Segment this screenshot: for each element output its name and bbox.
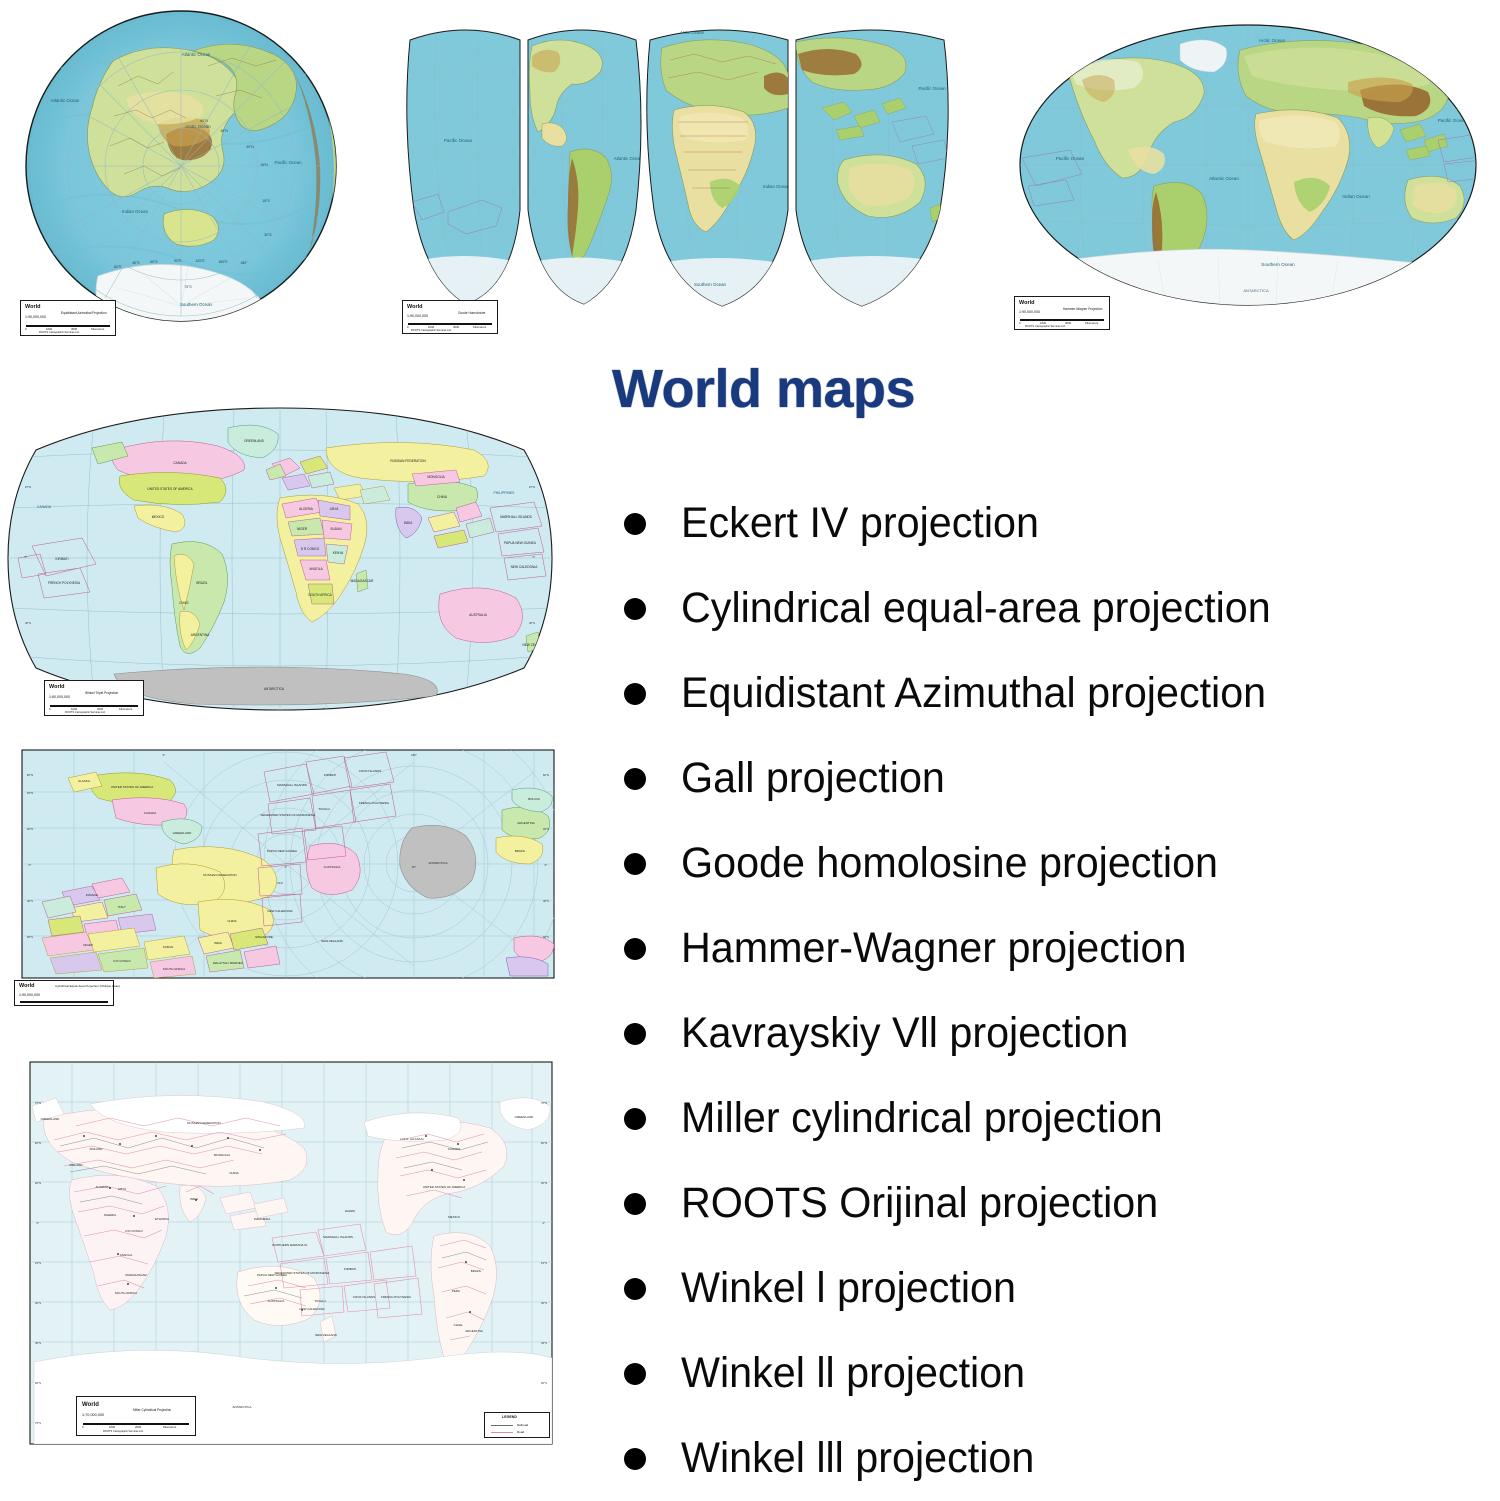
svg-text:RUSSIAN FEDERATION: RUSSIAN FEDERATION [187,1121,220,1125]
svg-text:ALGERIA: ALGERIA [299,507,314,511]
svg-text:30°N: 30°N [27,827,33,831]
legend-item-road: Road [517,1431,524,1434]
svg-text:60°E: 60°E [401,411,407,415]
map-thumb-miller-roads[interactable]: RUSSIAN FEDERATION MONGOLIA CHINA INDIA … [14,1040,566,1464]
svg-text:30°W: 30°W [1284,21,1292,25]
svg-text:GREENLAND: GREENLAND [41,1117,61,1121]
plate-scalebar-units-2: 1000 [1040,322,1046,325]
svg-text:Pacific Ocean: Pacific Ocean [274,160,302,165]
plate-credit: ROOTS Cartographic Services Ltd. [411,330,452,333]
svg-text:RUSSIAN FEDERATION: RUSSIAN FEDERATION [390,459,426,463]
svg-text:FRENCH POLYNESIA: FRENCH POLYNESIA [359,801,389,805]
svg-text:NORTHERN MARIANA IS.: NORTHERN MARIANA IS. [272,1243,308,1247]
plate-projection: Miller Cylindrical Projection [133,1409,171,1412]
svg-text:D R CONGO: D R CONGO [125,1229,143,1233]
svg-text:90°E: 90°E [411,981,417,985]
svg-text:NIGER: NIGER [83,943,93,947]
svg-text:TUVALU: TUVALU [314,1299,326,1303]
svg-text:D R CONGO: D R CONGO [113,959,131,963]
svg-text:CHILE: CHILE [454,1323,463,1327]
svg-text:45°W: 45°W [489,1451,496,1455]
svg-text:15°E: 15°E [69,1451,75,1455]
plate-projection: Cylindrical Equal-Area Projection (Obliq… [55,985,120,988]
svg-text:45°E: 45°E [111,1055,117,1059]
svg-text:60°N: 60°N [27,773,33,777]
svg-text:INDIA: INDIA [214,941,222,945]
svg-text:ALASKA: ALASKA [78,779,90,783]
plate-projection: Equidistant Azimuthal Projection [61,312,107,315]
svg-text:60°E: 60°E [1405,33,1412,37]
svg-text:75°W: 75°W [447,1055,454,1059]
svg-text:ARGENTINA: ARGENTINA [465,1329,483,1333]
svg-text:0°: 0° [163,753,166,757]
svg-text:90°E: 90°E [441,701,447,705]
svg-text:PAPUA NEW GUINEA: PAPUA NEW GUINEA [504,541,537,545]
legend-swatch-railroad [491,1425,513,1426]
svg-text:30°S: 30°S [541,1301,547,1305]
map-legend-plate: World Cylindrical Equal-Area Projection … [14,980,114,1006]
svg-text:CANADA: CANADA [144,811,157,815]
svg-text:105°E: 105°E [194,1055,202,1059]
svg-text:Atlantic Ocean: Atlantic Ocean [614,156,643,161]
svg-text:150°W: 150°W [120,415,129,419]
svg-text:INDIA: INDIA [404,521,413,525]
bullet-icon [624,1278,646,1300]
svg-text:0°: 0° [533,555,536,559]
plate-title: World [1019,301,1034,307]
svg-text:MEXICO: MEXICO [152,515,165,519]
plate-scale: 1:80,000,000 [49,696,70,700]
svg-text:15°W: 15°W [529,1055,536,1059]
svg-text:ANTARCTICA: ANTARCTICA [429,861,448,865]
svg-text:30°N: 30°N [541,1181,547,1185]
svg-text:Indian Ocean: Indian Ocean [122,209,149,214]
svg-text:ANGOLA: ANGOLA [120,1253,133,1257]
svg-text:120°E: 120°E [195,259,205,263]
svg-text:15°S: 15°S [262,199,270,203]
list-item[interactable]: Goode homolosine projection [618,821,1500,906]
svg-text:NEW CALEDONIA: NEW CALEDONIA [511,565,539,569]
list-item[interactable]: Cylindrical equal-area projection [618,566,1500,651]
svg-text:NIGERIA: NIGERIA [104,1213,116,1217]
plate-scalebar-units-2: 1000 [428,326,434,329]
svg-text:ANTARCTICA: ANTARCTICA [1243,288,1269,293]
list-item-label: Equidistant Azimuthal projection [681,671,1266,716]
list-item[interactable]: Equidistant Azimuthal projection [618,651,1500,736]
legend-title: LEGEND [502,1416,517,1420]
svg-text:0°: 0° [285,865,288,869]
svg-text:45°S: 45°S [35,1341,41,1345]
list-item-label: Winkel ll projection [681,1351,1025,1396]
plate-title: World [25,305,40,311]
plate-projection: Hammer-Wagner Projection [1063,308,1102,311]
svg-text:30°N: 30°N [35,1181,41,1185]
plate-credit: ROOTS Cartographic Services Ltd. [1025,326,1066,329]
svg-text:ALGERIA: ALGERIA [95,1185,108,1189]
svg-text:Arctic Ocean: Arctic Ocean [185,124,211,129]
svg-text:Atlantic Ocean: Atlantic Ocean [51,98,80,103]
list-item[interactable]: Gall projection [618,736,1500,821]
svg-text:135°E: 135°E [236,1451,244,1455]
svg-text:RUSSIAN FEDERATION: RUSSIAN FEDERATION [203,873,236,877]
svg-text:CHINA: CHINA [229,1171,238,1175]
svg-text:0°: 0° [543,1221,546,1225]
bullet-icon [624,768,646,790]
plate-scalebar-units-4: Kilometers [91,328,104,331]
svg-text:LIBYA: LIBYA [118,1187,126,1191]
svg-text:CHINA: CHINA [437,495,448,499]
svg-text:MADAGASCAR: MADAGASCAR [125,1273,147,1277]
map-legend-plate: World Equidistant Azimuthal Projection 1… [20,300,116,336]
map-legend-plate: World Hammer-Wagner Projection 1:90,000,… [1014,296,1110,330]
svg-text:30°E: 30°E [1365,309,1372,313]
svg-text:CANADA: CANADA [448,1147,461,1151]
svg-text:60°S: 60°S [27,935,33,939]
svg-text:30°S: 30°S [543,899,549,903]
svg-text:Southern Ocean: Southern Ocean [694,282,727,287]
svg-text:60°E: 60°E [114,265,122,269]
svg-text:PERU: PERU [452,1289,460,1293]
svg-text:150°W: 150°W [1123,309,1132,313]
svg-text:UNITED STATES OF AMERICA: UNITED STATES OF AMERICA [111,785,154,789]
plate-scalebar-units: 0 [1019,322,1021,325]
svg-text:60°S: 60°S [543,935,549,939]
svg-text:U.S.A. (ALASKA): U.S.A. (ALASKA) [400,1137,423,1141]
svg-text:60°N: 60°N [200,119,208,123]
svg-text:0°: 0° [1327,23,1331,27]
svg-text:15°S: 15°S [541,1261,547,1265]
svg-text:105°W: 105°W [404,1055,413,1059]
svg-text:Indian Ocean: Indian Ocean [1342,194,1370,199]
svg-text:Pacific Ocean: Pacific Ocean [444,138,473,143]
svg-text:GREENLAND: GREENLAND [244,439,265,443]
bullet-icon [624,1108,646,1130]
plate-projection: Winkel Tripel Projection [85,692,118,695]
svg-text:180°: 180° [240,261,248,265]
bullet-icon [624,513,646,535]
plate-scalebar-units-3: 3000 [97,708,103,711]
svg-text:SOUTH AFRICA: SOUTH AFRICA [308,593,332,597]
page-title: World maps [612,362,915,416]
svg-text:FRANCE: FRANCE [86,893,98,897]
svg-text:30°S: 30°S [529,621,535,625]
svg-text:30°S: 30°S [264,233,272,237]
svg-text:AUSTRALIA: AUSTRALIA [268,1299,285,1303]
svg-text:HAWAII: HAWAII [345,1209,356,1213]
svg-text:30°S: 30°S [35,1301,41,1305]
plate-scale: 1:90,000,000 [407,315,428,319]
svg-text:PHILIPPINES: PHILIPPINES [494,491,516,495]
svg-text:90°W: 90°W [1204,21,1212,25]
svg-text:60°W: 60°W [1244,19,1252,23]
plate-scale: 1:70,000,000 [82,1414,104,1418]
svg-text:15°N: 15°N [529,485,535,489]
map-legend-plate: World Goode Homolosine 1:90,000,000 0 10… [402,300,498,334]
svg-text:PAPUA NEW GUINEA: PAPUA NEW GUINEA [267,849,297,853]
svg-text:60°S: 60°S [541,1381,547,1385]
map-graphic-azimuthal: Atlantic Ocean Atlantic Ocean Arctic Oce… [18,6,348,336]
plate-scalebar-units: 0 [25,328,27,331]
svg-text:D R CONGO: D R CONGO [301,547,320,551]
svg-text:15°S: 15°S [35,1261,41,1265]
plate-credit: ROOTS Cartographic Services Ltd. [103,1431,144,1434]
map-legend-box: LEGEND Railroad Road [484,1412,550,1438]
svg-text:CANADA: CANADA [37,505,52,509]
svg-text:Arctic Ocean: Arctic Ocean [680,30,705,35]
svg-text:BOLIVIA: BOLIVIA [528,797,540,801]
svg-text:INDONESIA: INDONESIA [254,1217,271,1221]
svg-text:60°S: 60°S [35,1381,41,1385]
bullet-icon [624,1193,646,1215]
svg-text:15°E: 15°E [69,1055,75,1059]
plate-credit: ROOTS Cartographic Services Ltd. [39,332,80,335]
svg-text:30°W: 30°W [1284,313,1292,317]
plate-scalebar-units-2: 1000 [71,708,77,711]
svg-text:SUDAN: SUDAN [163,945,174,949]
svg-text:30°S: 30°S [25,621,31,625]
svg-text:AUSTRALIA: AUSTRALIA [324,865,341,869]
svg-text:90°E: 90°E [174,259,182,263]
list-item-label: Winkel lll projection [681,1436,1034,1481]
svg-text:ARGENTINA: ARGENTINA [191,633,210,637]
svg-text:CANADA: CANADA [173,461,187,465]
svg-text:MARSHALL ISLANDS: MARSHALL ISLANDS [500,515,532,519]
map-graphic-cea: UNITED STATES OF AMERICA CANADA GREENLAN… [14,742,562,990]
svg-text:75°N: 75°N [35,1101,41,1105]
plate-scalebar-units-3: 2000 [135,1426,141,1429]
plate-scalebar-units: 0 [49,708,51,711]
plate-scale: 1:90,000,000 [25,316,46,320]
svg-text:ARGENTINA: ARGENTINA [517,821,535,825]
list-item[interactable]: ROOTS Orijinal projection [618,1161,1500,1246]
svg-text:KIRIBATI: KIRIBATI [324,773,336,777]
plate-scalebar-units-4: Kilometers [119,708,132,711]
svg-text:120°E: 120°E [460,419,468,423]
svg-text:SUDAN: SUDAN [330,527,342,531]
svg-text:30°S: 30°S [27,899,33,903]
svg-text:BRAZIL: BRAZIL [471,1269,482,1273]
svg-text:165°E: 165°E [278,1055,286,1059]
svg-text:NIGER: NIGER [297,527,308,531]
svg-text:GREENLAND: GREENLAND [173,831,193,835]
plate-scalebar-units-2: 1000 [109,1426,115,1429]
svg-text:75°S: 75°S [184,285,192,289]
list-item[interactable]: Miller cylindrical projection [618,1076,1500,1161]
svg-text:ANTARCTICA: ANTARCTICA [264,687,285,691]
svg-text:Arctic Ocean: Arctic Ocean [1259,38,1286,43]
plate-scalebar-units-3: 3000 [453,326,459,329]
svg-text:ITALY: ITALY [118,905,126,909]
svg-text:FEDERATED STATES OF MICRONESIA: FEDERATED STATES OF MICRONESIA [261,813,316,817]
svg-text:COOK ISLANDS: COOK ISLANDS [353,1295,376,1299]
svg-text:GREENLAND: GREENLAND [515,1115,535,1119]
bullet-icon [624,1363,646,1385]
list-item[interactable]: Kavrayskiy Vll projection [618,991,1500,1076]
svg-text:NEW ZEALAND: NEW ZEALAND [315,1333,338,1337]
plate-scalebar-units-3: 3000 [71,328,77,331]
svg-text:INDIA: INDIA [190,1197,198,1201]
map-legend-plate: World Winkel Tripel Projection 1:80,000,… [44,680,144,716]
legend-swatch-road [491,1432,513,1433]
svg-text:Southern Ocean: Southern Ocean [1261,262,1295,267]
svg-text:0°: 0° [25,555,28,559]
svg-text:90°W: 90°W [1204,313,1212,317]
svg-text:SINGAPORE: SINGAPORE [255,935,273,939]
svg-text:FRENCH POLYNESIA: FRENCH POLYNESIA [48,581,81,585]
plate-projection: Goode Homolosine [458,312,485,315]
svg-text:AUSTRALIA: AUSTRALIA [469,613,488,617]
map-graphic-goode: Pacific Ocean Atlantic Ocean [392,12,968,332]
plate-scalebar-units: 0 [82,1426,84,1429]
svg-text:15°N: 15°N [260,163,268,167]
bullet-icon [624,598,646,620]
svg-text:15°N: 15°N [25,485,31,489]
title-block: World maps [612,362,915,416]
plate-scalebar-units-4: Kilometers [163,1426,176,1429]
projection-list: Eckert IV projection Cylindrical equal-a… [618,481,1500,1501]
svg-text:165°W: 165°W [320,1055,329,1059]
svg-text:60°W: 60°W [241,406,248,410]
svg-text:KIRIBATI: KIRIBATI [344,1267,356,1271]
svg-text:CHINA: CHINA [227,919,236,923]
svg-text:45°S: 45°S [132,261,140,265]
svg-text:135°W: 135°W [362,1055,371,1059]
list-item-label: Hammer-Wagner projection [681,926,1186,971]
svg-text:MARSHALL ISLANDS: MARSHALL ISLANDS [277,783,307,787]
svg-text:180°: 180° [411,753,417,757]
list-item[interactable]: Winkel ll projection [618,1331,1500,1416]
svg-text:0°: 0° [37,1221,40,1225]
svg-text:SOUTH AFRICA: SOUTH AFRICA [115,1291,137,1295]
plate-scalebar-units-4: Kilometers [1085,322,1098,325]
plate-scale: 1:90,000,000 [1019,311,1040,315]
svg-text:60°S: 60°S [150,260,158,264]
svg-text:UNITED STATES OF AMERICA: UNITED STATES OF AMERICA [423,1185,466,1189]
svg-text:ETHIOPIA: ETHIOPIA [155,1217,169,1221]
list-item[interactable]: Winkel l projection [618,1246,1500,1331]
svg-text:150°E: 150°E [218,260,228,264]
svg-text:COOK ISLANDS: COOK ISLANDS [359,769,382,773]
list-item-label: ROOTS Orijinal projection [681,1181,1158,1226]
svg-text:FIJI: FIJI [278,881,283,885]
svg-text:75°E: 75°E [153,1451,159,1455]
map-legend-plate: World Miller Cylindrical Projection 1:70… [76,1396,196,1436]
svg-text:CHILE: CHILE [179,601,188,605]
svg-text:ANTARCTICA: ANTARCTICA [233,1405,252,1409]
svg-text:45°N: 45°N [220,129,228,133]
plate-scalebar-units-3: 3000 [1065,322,1071,325]
plate-title: World [19,984,34,990]
legend-item-railroad: Railroad [517,1424,528,1427]
svg-text:MONGOLIA: MONGOLIA [214,1153,230,1157]
svg-text:135°E: 135°E [236,1055,244,1059]
svg-text:75°N: 75°N [541,1101,547,1105]
svg-text:165°W: 165°W [320,1451,329,1455]
svg-text:MADAGASCAR: MADAGASCAR [351,579,374,583]
map-graphic-winkel: CANADA UNITED STATES OF AMERICA GREENLAN… [4,398,556,720]
plate-credit: ROOTS Cartographic Services Ltd. [65,712,106,715]
svg-text:75°E: 75°E [153,1055,159,1059]
svg-text:SOUTH AFRICA: SOUTH AFRICA [163,967,185,971]
svg-text:45°S: 45°S [541,1341,547,1345]
map-thumb-goode-homolosine[interactable]: Pacific Ocean Atlantic Ocean [392,12,968,332]
svg-text:IRELAND: IRELAND [69,1163,83,1167]
svg-text:NEW ZEALAND: NEW ZEALAND [321,939,344,943]
plate-scale: 1:90,000,000 [19,994,40,998]
svg-text:90°: 90° [412,865,416,869]
svg-text:Pacific Ocean: Pacific Ocean [918,86,946,91]
svg-text:45°N: 45°N [27,791,33,795]
list-item-label: Winkel l projection [681,1266,1016,1311]
list-item-label: Goode homolosine projection [681,841,1218,886]
svg-text:Southern Ocean: Southern Ocean [180,302,213,307]
svg-text:MARSHALL ISLANDS: MARSHALL ISLANDS [323,1235,353,1239]
svg-text:60°N: 60°N [543,773,549,777]
bullet-icon [624,853,646,875]
svg-text:KIRIBATI: KIRIBATI [55,557,68,561]
svg-text:90°W: 90°W [161,981,168,985]
svg-text:UNITED STATES OF AMERICA: UNITED STATES OF AMERICA [147,487,193,491]
list-item[interactable]: Eckert IV projection [618,481,1500,566]
svg-text:105°W: 105°W [404,1451,413,1455]
svg-text:NEW CALEDONIA: NEW CALEDONIA [299,1307,324,1311]
svg-text:Indian Ocean: Indian Ocean [763,184,790,189]
map-thumb-hammer-wagner[interactable]: Arctic Ocean Pacific Ocean Atlantic Ocea… [1008,10,1488,332]
svg-text:BRAZIL: BRAZIL [515,849,526,853]
map-thumb-equidistant-azimuthal[interactable]: Atlantic Ocean Atlantic Ocean Arctic Oce… [18,6,348,336]
bullet-icon [624,683,646,705]
list-item-label: Kavrayskiy Vll projection [681,1011,1128,1056]
list-item[interactable]: Hammer-Wagner projection [618,906,1500,991]
list-item-label: Cylindrical equal-area projection [681,586,1271,631]
svg-text:0°: 0° [29,863,32,867]
plate-scalebar-units-2: 1000 [46,328,52,331]
plate-scalebar [20,1001,108,1003]
svg-text:0°: 0° [545,863,548,867]
svg-text:FINLAND: FINLAND [90,1147,104,1151]
list-item-label: Eckert IV projection [681,501,1039,546]
svg-text:60°N: 60°N [35,1141,41,1145]
svg-text:75°S: 75°S [35,1421,41,1425]
svg-text:TUVALU: TUVALU [318,807,330,811]
plate-scalebar-units-4: Kilometers [473,326,486,329]
svg-text:ANGOLA: ANGOLA [309,567,323,571]
bullet-icon [624,1023,646,1045]
list-item-label: Miller cylindrical projection [681,1096,1163,1141]
map-thumb-cylindrical-equal-area[interactable]: UNITED STATES OF AMERICA CANADA GREENLAN… [14,742,562,990]
plate-title: World [407,305,422,311]
map-graphic-hammer: Arctic Ocean Pacific Ocean Atlantic Ocea… [1008,10,1488,332]
svg-text:45°W: 45°W [489,1055,496,1059]
svg-text:60°N: 60°N [541,1141,547,1145]
list-item[interactable]: Winkel lll projection [618,1416,1500,1501]
svg-text:LIBYA: LIBYA [330,507,340,511]
svg-text:120°W: 120°W [1163,23,1172,27]
svg-text:150°W: 150°W [1123,27,1132,31]
map-thumb-winkel-political[interactable]: CANADA UNITED STATES OF AMERICA GREENLAN… [4,398,556,720]
svg-text:MEXICO: MEXICO [448,1215,461,1219]
svg-text:30°N: 30°N [246,145,254,149]
svg-text:BRAZIL: BRAZIL [196,581,207,585]
svg-text:PAPUA NEW GUINEA: PAPUA NEW GUINEA [257,1273,287,1277]
svg-text:0°: 0° [323,406,326,410]
svg-text:NEW CALEDONIA: NEW CALEDONIA [267,909,292,913]
bullet-icon [624,938,646,960]
bullet-icon [624,1448,646,1470]
svg-text:Pacific Ocean: Pacific Ocean [1056,156,1085,161]
svg-text:Pacific Ocean: Pacific Ocean [1438,118,1467,123]
svg-text:FRENCH POLYNESIA: FRENCH POLYNESIA [381,1295,411,1299]
